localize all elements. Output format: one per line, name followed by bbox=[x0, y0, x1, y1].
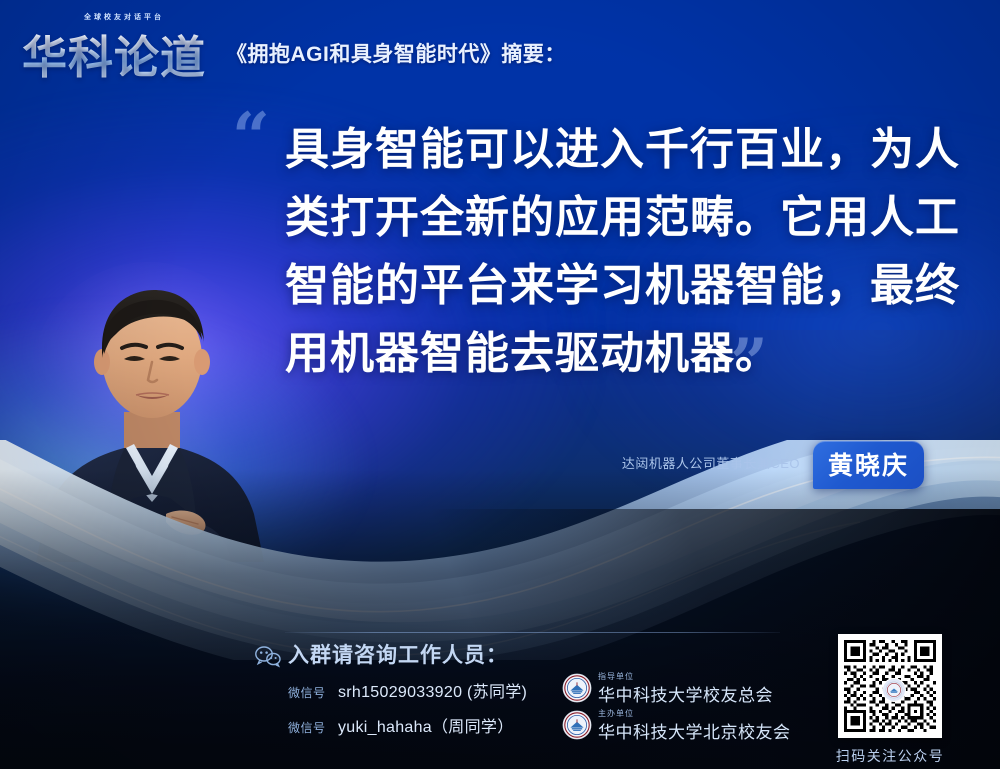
quote-line: 类打开全新的应用范畴。它用人工 bbox=[285, 184, 945, 252]
quote-line: 用机器智能去驱动机器。 bbox=[285, 320, 945, 388]
university-emblem-icon bbox=[562, 710, 592, 740]
organization-guiding: 指导单位 华中科技大学校友总会 bbox=[562, 673, 802, 707]
quote-line: 具身智能可以进入千行百业，为人 bbox=[285, 116, 945, 184]
qr-center-logo bbox=[882, 678, 906, 702]
qr-caption: 扫码关注公众号 bbox=[826, 746, 954, 766]
attribution: 达闼机器人公司董事长兼CEO 黄晓庆 bbox=[600, 443, 920, 485]
speaker-name-badge: 黄晓庆 bbox=[813, 441, 924, 489]
wechat-icon bbox=[254, 644, 282, 668]
contact-row[interactable]: 微信号 yuki_hahaha（周同学） bbox=[288, 713, 514, 737]
organization-name: 华中科技大学校友总会 bbox=[598, 681, 773, 706]
logo-wordmark: 华科论道 bbox=[22, 21, 206, 86]
footer-divider bbox=[285, 632, 780, 633]
contact-value: srh15029033920 (苏同学) bbox=[338, 684, 527, 701]
quote-open-mark: “ bbox=[232, 104, 266, 170]
quote-close-mark: ” bbox=[730, 330, 764, 396]
contact-row[interactable]: 微信号 srh15029033920 (苏同学) bbox=[288, 678, 527, 702]
brand-logo[interactable]: 全球校友对话平台 华科论道 bbox=[22, 11, 218, 73]
contact-title: 入群请咨询工作人员： bbox=[288, 639, 508, 669]
quote-line: 智能的平台来学习机器智能，最终 bbox=[285, 252, 945, 320]
page-title: 《拥抱AGI和具身智能时代》摘要： bbox=[226, 38, 566, 68]
organization-name: 华中科技大学北京校友会 bbox=[598, 718, 791, 743]
organization-host: 主办单位 华中科技大学北京校友会 bbox=[562, 710, 802, 744]
poster-canvas: 全球校友对话平台 华科论道 《拥抱AGI和具身智能时代》摘要： “ 具身智能可以… bbox=[0, 0, 1000, 769]
university-emblem-icon bbox=[562, 673, 592, 703]
speaker-role: 达闼机器人公司董事长兼CEO bbox=[622, 453, 800, 472]
header: 全球校友对话平台 华科论道 《拥抱AGI和具身智能时代》摘要： bbox=[0, 0, 1000, 92]
speaker-name: 黄晓庆 bbox=[828, 451, 909, 480]
contact-label: 微信号 bbox=[288, 686, 326, 700]
quote-text: 具身智能可以进入千行百业，为人 类打开全新的应用范畴。它用人工 智能的平台来学习… bbox=[285, 116, 945, 388]
contact-value: yuki_hahaha（周同学） bbox=[338, 719, 514, 736]
contact-label: 微信号 bbox=[288, 721, 326, 735]
qr-code-block[interactable]: 扫码关注公众号 bbox=[838, 634, 958, 754]
